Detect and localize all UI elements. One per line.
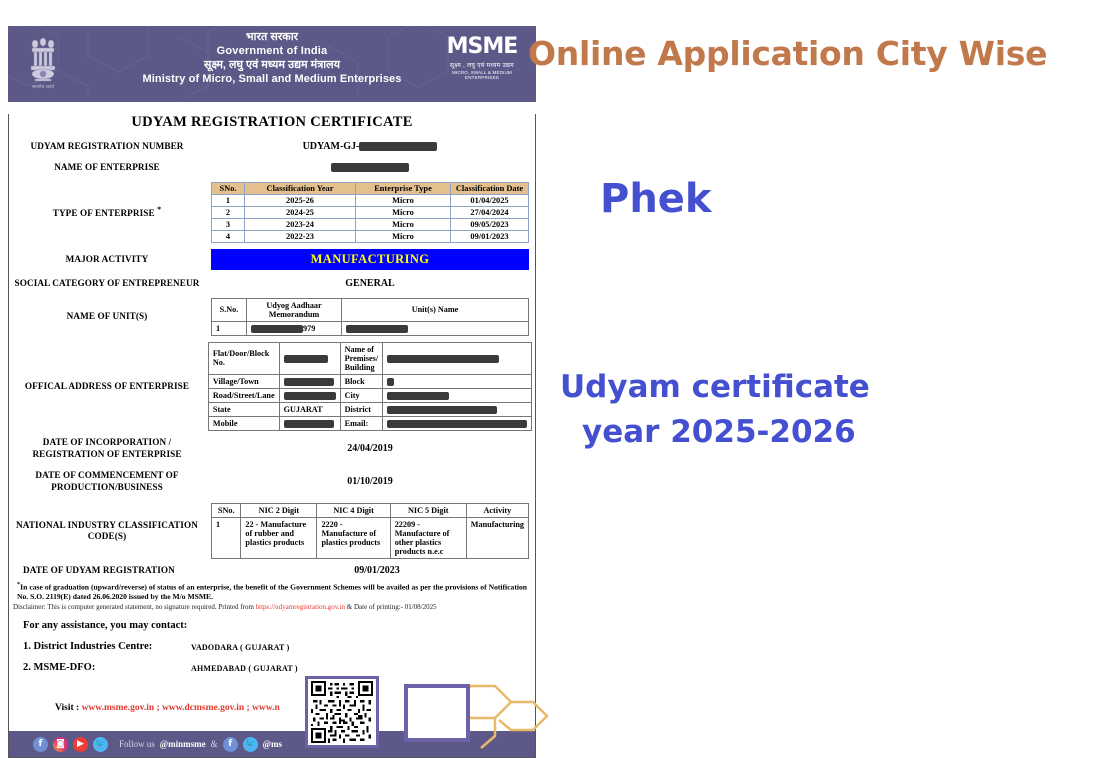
contact-dic: 1. District Industries Centre: VADODARA …	[9, 641, 535, 652]
handle-msme: @ms	[263, 739, 282, 749]
official-address-label: OFFICAL ADDRESS OF ENTERPRISE	[9, 381, 205, 393]
qr-code-image	[310, 681, 374, 743]
visit-tail: n	[274, 703, 279, 713]
overlay-city-name: Phek	[600, 176, 712, 222]
udyam-registration-link[interactable]: https://udyamregistration.gov.in	[256, 603, 345, 611]
classification-table-header-row: SNo. Classification Year Enterprise Type…	[212, 183, 529, 195]
enterprise-name-value	[205, 162, 535, 173]
unit-table: S.No. Udyog Aadhaar Memorandum Unit(s) N…	[211, 298, 529, 336]
contact-dfo-label: 2. MSME-DFO:	[23, 662, 191, 673]
table-row: Village/Town Block	[208, 374, 531, 388]
field-official-address: OFFICAL ADDRESS OF ENTERPRISE Flat/Door/…	[9, 342, 535, 432]
contact-dfo-value: AHMEDABAD ( GUJARAT )	[191, 662, 298, 673]
field-major-activity: MAJOR ACTIVITY MANUFACTURING	[9, 249, 535, 270]
table-row: State GUJARAT District	[208, 402, 531, 416]
certificate-title: UDYAM REGISTRATION CERTIFICATE	[9, 114, 535, 131]
address-value-redacted	[279, 342, 340, 374]
unit-name-label: NAME OF UNIT(S)	[9, 311, 205, 323]
field-enterprise-name: NAME OF ENTERPRISE	[9, 162, 535, 174]
address-value2-redacted	[383, 342, 532, 374]
nic-table: SNo. NIC 2 Digit NIC 4 Digit NIC 5 Digit…	[211, 503, 529, 559]
urn-label: UDYAM REGISTRATION NUMBER	[9, 141, 205, 153]
msme-logo-sub-english: MICRO, SMALL & MEDIUM ENTERPRISES	[436, 70, 528, 80]
handle-minmsme[interactable]: @minmsme	[160, 739, 206, 749]
udyog-aadhaar-value: 979	[247, 321, 342, 335]
msme-logo: MSME सूक्ष्म , लघु एवं मध्यम उद्यम MICRO…	[436, 36, 528, 80]
address-table: Flat/Door/Block No. Name of Premises/ Bu…	[208, 342, 532, 432]
follow-us-text: Follow us	[119, 739, 155, 749]
qr-code	[305, 676, 379, 748]
urn-redacted-mask	[359, 142, 437, 151]
disclaimer-post: & Date of printing:- 01/08/2025	[345, 603, 437, 611]
msme-logo-sub-hindi: सूक्ष्म , लघु एवं मध्यम उद्यम	[436, 61, 528, 69]
col-unit-sno: S.No.	[212, 298, 247, 321]
contact-dic-value: VADODARA ( GUJARAT )	[191, 641, 289, 652]
nic-label: NATIONAL INDUSTRY CLASSIFICATION CODE(S)	[9, 520, 205, 543]
field-udyam-registration-date: DATE OF UDYAM REGISTRATION 09/01/2023	[9, 565, 535, 577]
social-category-label: SOCIAL CATEGORY OF ENTREPRENEUR	[9, 278, 205, 290]
disclaimer: Disclaimer: This is computer generated s…	[9, 603, 535, 612]
nic-table-header-row: SNo. NIC 2 Digit NIC 4 Digit NIC 5 Digit…	[212, 504, 529, 518]
unit-table-header-row: S.No. Udyog Aadhaar Memorandum Unit(s) N…	[212, 298, 529, 321]
state-value: GUJARAT	[279, 402, 340, 416]
udyam-reg-date-value: 09/01/2023	[219, 565, 535, 576]
enterprise-name-redacted-mask	[331, 163, 409, 172]
social-category-value: GENERAL	[205, 278, 535, 289]
table-row: Mobile Email:	[208, 417, 531, 431]
unit-name-value	[342, 321, 529, 335]
certificate-body: UDYAM REGISTRATION CERTIFICATE UDYAM REG…	[8, 114, 536, 758]
udyam-reg-date-label: DATE OF UDYAM REGISTRATION	[9, 565, 219, 577]
type-asterisk: *	[157, 205, 161, 214]
table-row: 32023-24Micro09/05/2023	[212, 219, 529, 231]
urn-prefix: UDYAM-GJ-	[303, 141, 360, 152]
table-row: 12025-26Micro01/04/2025	[212, 195, 529, 207]
commencement-value: 01/10/2019	[205, 476, 535, 487]
hexagon-decoration	[455, 676, 555, 752]
ampersand: &	[211, 739, 218, 749]
certificate-header-band: सत्यमेव जयते भारत सरकार Government of In…	[8, 26, 536, 102]
table-row: Flat/Door/Block No. Name of Premises/ Bu…	[208, 342, 531, 374]
table-row: 1 979	[212, 321, 529, 335]
urn-value: UDYAM-GJ-	[205, 141, 535, 152]
major-activity-label: MAJOR ACTIVITY	[9, 254, 205, 266]
field-incorporation-date: DATE OF INCORPORATION / REGISTRATION OF …	[9, 437, 535, 460]
district-value	[383, 402, 532, 416]
field-social-category: SOCIAL CATEGORY OF ENTREPRENEUR GENERAL	[9, 278, 535, 290]
major-activity-value: MANUFACTURING	[211, 249, 529, 270]
instagram-icon[interactable]: ◙	[53, 737, 68, 752]
twitter-icon[interactable]: 🐦	[93, 737, 108, 752]
field-nic-codes: NATIONAL INDUSTRY CLASSIFICATION CODE(S)…	[9, 503, 535, 559]
col-enterprise-type: Enterprise Type	[356, 183, 451, 195]
graduation-footnote: *In case of graduation (upward/reverse) …	[9, 581, 535, 603]
assistance-heading: For any assistance, you may contact:	[9, 620, 535, 631]
overlay-subtitle-line1: Udyam certificate	[560, 369, 870, 405]
table-row: 1 22 - Manufacture of rubber and plastic…	[212, 518, 529, 559]
screenshot-root: सत्यमेव जयते भारत सरकार Government of In…	[0, 0, 1116, 753]
facebook-icon[interactable]: f	[33, 737, 48, 752]
visit-prefix: Visit :	[55, 703, 82, 713]
contact-dfo: 2. MSME-DFO: AHMEDABAD ( GUJARAT )	[9, 662, 535, 673]
udyam-certificate: सत्यमेव जयते भारत सरकार Government of In…	[8, 26, 536, 748]
overlay-subtitle: Udyam certificate year 2025-2026	[560, 365, 870, 455]
facebook-icon[interactable]: f	[223, 737, 238, 752]
table-row: 42022-23Micro09/01/2023	[212, 231, 529, 243]
field-type-of-enterprise: TYPE OF ENTERPRISE * SNo. Classification…	[9, 182, 535, 243]
col-classification-year: Classification Year	[245, 183, 356, 195]
commencement-label: DATE OF COMMENCEMENT OF PRODUCTION/BUSIN…	[9, 470, 205, 493]
youtube-icon[interactable]: ▶	[73, 737, 88, 752]
col-sno: SNo.	[212, 183, 245, 195]
field-commencement-date: DATE OF COMMENCEMENT OF PRODUCTION/BUSIN…	[9, 470, 535, 493]
msme-logo-mark: MSME	[436, 36, 528, 58]
overlay-title: Online Application City Wise	[528, 34, 1047, 73]
incorporation-label: DATE OF INCORPORATION / REGISTRATION OF …	[9, 437, 205, 460]
classification-table: SNo. Classification Year Enterprise Type…	[211, 182, 529, 243]
field-urn: UDYAM REGISTRATION NUMBER UDYAM-GJ-	[9, 141, 535, 153]
col-unit-name: Unit(s) Name	[342, 298, 529, 321]
col-udyog-aadhaar: Udyog Aadhaar Memorandum	[247, 298, 342, 321]
field-unit-names: NAME OF UNIT(S) S.No. Udyog Aadhaar Memo…	[9, 298, 535, 336]
table-row: Road/Street/Lane City	[208, 388, 531, 402]
overlay-subtitle-line2: year 2025-2026	[560, 410, 870, 455]
twitter-icon[interactable]: 🐦	[243, 737, 258, 752]
table-row: 22024-25Micro27/04/2024	[212, 207, 529, 219]
disclaimer-pre: Disclaimer: This is computer generated s…	[13, 603, 256, 611]
col-classification-date: Classification Date	[451, 183, 529, 195]
contact-dic-label: 1. District Industries Centre:	[23, 641, 191, 652]
purple-square-overlay	[404, 684, 470, 742]
visit-links[interactable]: www.msme.gov.in ; www.dcmsme.gov.in ; ww…	[82, 703, 275, 713]
incorporation-value: 24/04/2019	[205, 443, 535, 454]
enterprise-name-label: NAME OF ENTERPRISE	[9, 162, 205, 174]
type-of-enterprise-label: TYPE OF ENTERPRISE *	[9, 205, 205, 220]
